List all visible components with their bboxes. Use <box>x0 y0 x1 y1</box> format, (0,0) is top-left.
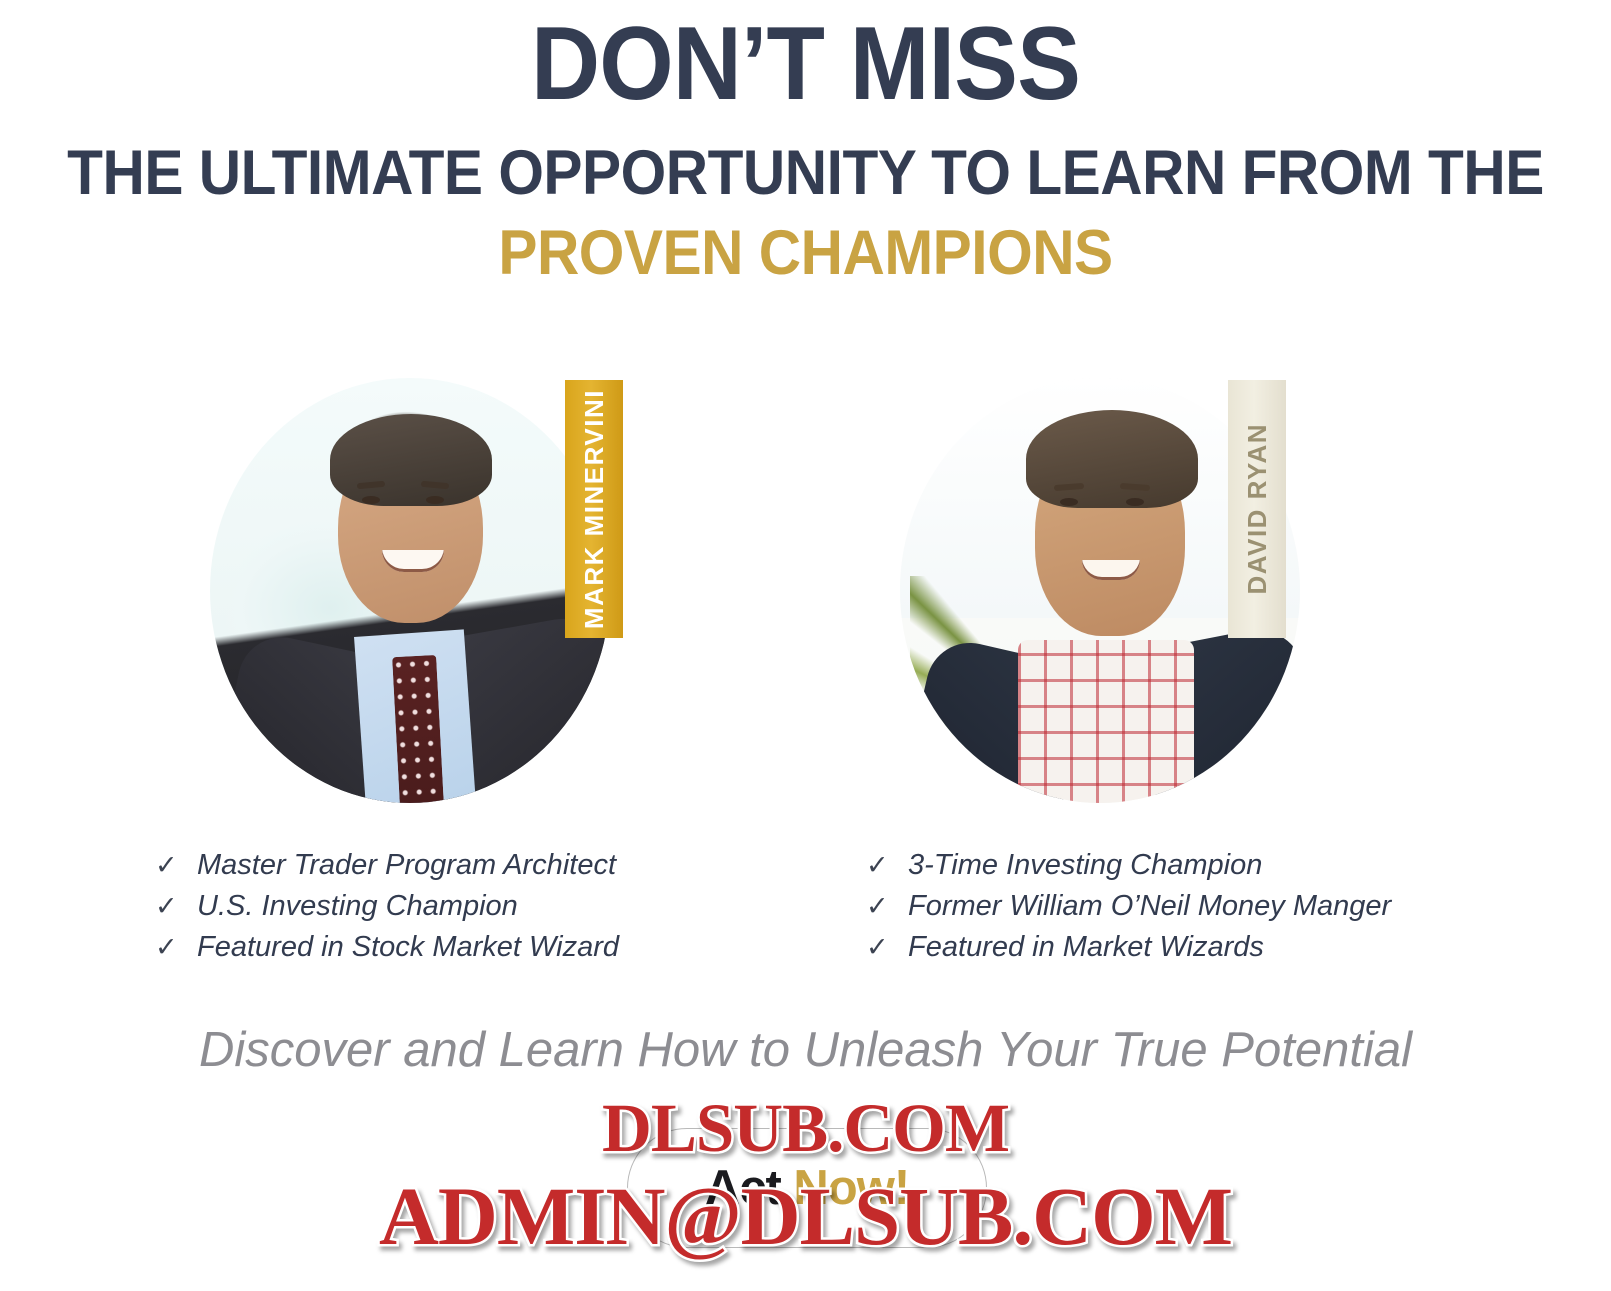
list-item: ✓ U.S. Investing Champion <box>155 886 619 927</box>
list-item: ✓ 3-Time Investing Champion <box>866 845 1391 886</box>
watermark-email: ADMIN@DLSUB.COM <box>0 1168 1611 1264</box>
list-item-label: Master Trader Program Architect <box>197 845 616 886</box>
headline-block: DON’T MISS THE ULTIMATE OPPORTUNITY TO L… <box>0 0 1611 288</box>
credentials-row: ✓ Master Trader Program Architect ✓ U.S.… <box>0 845 1611 975</box>
speaker-name-label: DAVID RYAN <box>1242 423 1273 595</box>
check-icon: ✓ <box>155 845 197 886</box>
headline-line-1: DON’T MISS <box>64 12 1546 116</box>
list-item-label: Featured in Market Wizards <box>908 927 1264 968</box>
check-icon: ✓ <box>155 886 197 927</box>
speaker-card-david-ryan: DAVID RYAN <box>880 368 1340 818</box>
list-item-label: Featured in Stock Market Wizard <box>197 927 619 968</box>
speaker-card-mark-minervini: MARK MINERVINI <box>190 368 650 818</box>
speaker-name-banner-mark-minervini: MARK MINERVINI <box>565 380 623 638</box>
tagline: Discover and Learn How to Unleash Your T… <box>0 1020 1611 1080</box>
check-icon: ✓ <box>866 927 908 968</box>
watermark-site: DLSUB.COM <box>0 1089 1611 1168</box>
list-item: ✓ Master Trader Program Architect <box>155 845 619 886</box>
headline-line-3: PROVEN CHAMPIONS <box>56 218 1554 288</box>
speaker-name-banner-david-ryan: DAVID RYAN <box>1228 380 1286 638</box>
credentials-list-mark-minervini: ✓ Master Trader Program Architect ✓ U.S.… <box>155 845 619 968</box>
list-item-label: U.S. Investing Champion <box>197 886 518 927</box>
speaker-name-label: MARK MINERVINI <box>579 389 610 629</box>
speaker-portrait-mark-minervini <box>210 378 610 803</box>
headline-line-2: THE ULTIMATE OPPORTUNITY TO LEARN FROM T… <box>56 138 1554 208</box>
check-icon: ✓ <box>866 886 908 927</box>
portrait-photo-icon <box>210 378 610 803</box>
speakers-row: MARK MINERVINI DAVID RYAN <box>0 368 1611 838</box>
list-item: ✓ Featured in Market Wizards <box>866 927 1391 968</box>
check-icon: ✓ <box>866 845 908 886</box>
list-item-label: 3-Time Investing Champion <box>908 845 1262 886</box>
list-item-label: Former William O’Neil Money Manger <box>908 886 1391 927</box>
list-item: ✓ Former William O’Neil Money Manger <box>866 886 1391 927</box>
check-icon: ✓ <box>155 927 197 968</box>
credentials-list-david-ryan: ✓ 3-Time Investing Champion ✓ Former Wil… <box>866 845 1391 968</box>
list-item: ✓ Featured in Stock Market Wizard <box>155 927 619 968</box>
